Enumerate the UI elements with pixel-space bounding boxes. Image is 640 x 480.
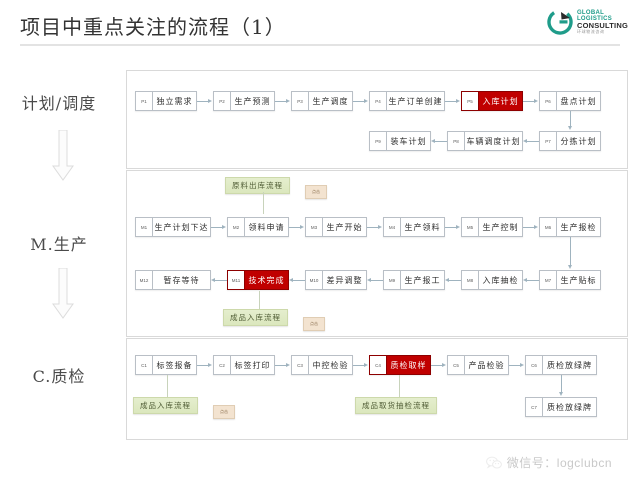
arrow-head [364, 363, 368, 367]
node-label: 盘点计划 [557, 92, 600, 110]
node-label: 生产订单创建 [387, 92, 444, 110]
node-p6[interactable]: P6 盘点计划 [539, 91, 601, 111]
section-panel-manufacturing: 原料出库流程 点击 M1 生产计划下达 M2 领料申请 M3 生产开始 M4 生… [126, 170, 628, 337]
arrow-head [431, 139, 435, 143]
node-label: 产品检验 [465, 356, 508, 374]
node-code: C5 [448, 356, 465, 374]
rail-label-manufacturing: M.生产 [0, 231, 118, 255]
node-code: P8 [448, 132, 465, 150]
arrow-head [456, 225, 460, 229]
connector [570, 237, 571, 266]
note-leader-line [399, 375, 400, 397]
node-m8[interactable]: M8 入库抽检 [461, 270, 523, 290]
page-footer: 微信号：logclubcn [0, 446, 640, 480]
node-label: 质检取样 [387, 356, 430, 374]
connector [291, 280, 305, 281]
node-code: P2 [214, 92, 231, 110]
arrow-head [222, 225, 226, 229]
arrow-head [534, 99, 538, 103]
node-c6[interactable]: C6 质检放绿牌 [525, 355, 597, 375]
note-tag-text: 点击 [310, 321, 318, 327]
node-p5-highlight[interactable]: P5 入库计划 [461, 91, 523, 111]
rail-arrow-plan-to-mfg [52, 130, 74, 182]
node-label: 车辆调度计划 [465, 132, 522, 150]
company-logo: GLOBAL LOGISTICS CONSULTING 环球物流咨询 [547, 5, 628, 39]
arrow-head [286, 363, 290, 367]
connector [447, 280, 461, 281]
node-c4-highlight[interactable]: C4 质检取样 [369, 355, 431, 375]
note-text: 成品入库流程 [230, 312, 281, 323]
node-label: 生产调度 [309, 92, 352, 110]
rail-arrow-mfg-to-qc [52, 268, 74, 320]
node-label: 生产领料 [401, 218, 444, 236]
node-m5[interactable]: M5 生产控制 [461, 217, 523, 237]
node-label: 生产预测 [231, 92, 274, 110]
note-finished-goods-inbound[interactable]: 成品入库流程 [223, 309, 288, 326]
node-code: M10 [306, 271, 323, 289]
logo-line-4: 环球物流咨询 [577, 30, 628, 34]
arrow-head [568, 126, 572, 130]
connector [433, 141, 447, 142]
wechat-id-label: 微信号：logclubcn [507, 454, 612, 471]
node-m10[interactable]: M10 差异调整 [305, 270, 367, 290]
connector [561, 375, 562, 393]
node-m7[interactable]: M7 生产贴标 [539, 270, 601, 290]
note-text: 原料出库流程 [232, 180, 283, 191]
node-code: C3 [292, 356, 309, 374]
connector [525, 280, 539, 281]
arrow-head [286, 99, 290, 103]
node-label: 分拣计划 [557, 132, 600, 150]
arrow-head [445, 278, 449, 282]
logo-wordmark: GLOBAL LOGISTICS CONSULTING 环球物流咨询 [577, 10, 628, 35]
arrow-head [211, 278, 215, 282]
page-title: 项目中重点关注的流程（1） [20, 11, 286, 40]
node-label: 生产开始 [323, 218, 366, 236]
arrow-head [300, 225, 304, 229]
connector [570, 111, 571, 127]
node-label: 生产报检 [557, 218, 600, 236]
arrow-head [208, 363, 212, 367]
arrow-head [367, 278, 371, 282]
node-m9[interactable]: M9 生产报工 [383, 270, 445, 290]
arrow-head [456, 99, 460, 103]
arrow-head [520, 363, 524, 367]
rail-label-plan: 计划/调度 [0, 90, 118, 114]
node-label: 生产报工 [401, 271, 444, 289]
note-finished-goods-inbound-qc[interactable]: 成品入库流程 [133, 397, 198, 414]
node-label: 标签报备 [153, 356, 196, 374]
connector [213, 280, 227, 281]
node-p4[interactable]: P4 生产订单创建 [369, 91, 445, 111]
node-code: P6 [540, 92, 557, 110]
note-leader-line [263, 192, 264, 214]
node-m3[interactable]: M3 生产开始 [305, 217, 367, 237]
page-header: 项目中重点关注的流程（1） GLOBAL LOGISTICS CONSULTIN… [0, 0, 640, 52]
node-code: M7 [540, 271, 557, 289]
header-divider [20, 44, 620, 46]
node-m2[interactable]: M2 领料申请 [227, 217, 289, 237]
node-m1[interactable]: M1 生产计划下达 [135, 217, 211, 237]
node-code: M3 [306, 218, 323, 236]
node-code: P9 [370, 132, 387, 150]
globe-logo-icon [547, 9, 573, 35]
arrow-head [559, 392, 563, 396]
node-code: C2 [214, 356, 231, 374]
node-label: 入库抽检 [479, 271, 522, 289]
node-code: C1 [136, 356, 153, 374]
node-label: 暂存等待 [153, 271, 210, 289]
section-panel-plan: P1 独立需求 P2 生产预测 P3 生产调度 P4 生产订单创建 P5 入库计… [126, 70, 628, 169]
node-label: 中控检验 [309, 356, 352, 374]
node-code: P5 [462, 92, 479, 110]
node-p8[interactable]: P8 车辆调度计划 [447, 131, 523, 151]
node-label: 入库计划 [479, 92, 522, 110]
node-c1[interactable]: C1 标签报备 [135, 355, 197, 375]
note-leader-line [259, 291, 260, 309]
note-text: 成品取货抽检流程 [362, 400, 430, 411]
node-p3[interactable]: P3 生产调度 [291, 91, 353, 111]
node-code: M8 [462, 271, 479, 289]
node-p1[interactable]: P1 独立需求 [135, 91, 197, 111]
arrow-head [568, 265, 572, 269]
node-code: M2 [228, 218, 245, 236]
node-c7[interactable]: C7 质检放绿牌 [525, 397, 597, 417]
node-label: 质检放绿牌 [543, 398, 596, 416]
node-code: P7 [540, 132, 557, 150]
node-c2[interactable]: C2 标签打印 [213, 355, 275, 375]
node-p7[interactable]: P7 分拣计划 [539, 131, 601, 151]
node-code: M11 [228, 271, 245, 289]
node-code: C4 [370, 356, 387, 374]
note-tag[interactable]: 点击 [303, 317, 325, 331]
arrow-head [208, 99, 212, 103]
wechat-credit: 微信号：logclubcn [486, 454, 612, 471]
node-m12[interactable]: M12 暂存等待 [135, 270, 211, 290]
arrow-head [523, 278, 527, 282]
node-label: 生产控制 [479, 218, 522, 236]
node-label: 独立需求 [153, 92, 196, 110]
node-label: 标签打印 [231, 356, 274, 374]
section-panel-quality: C1 标签报备 C2 标签打印 C3 中控检验 C4 质检取样 C5 产品检验 … [126, 338, 628, 440]
arrow-head [442, 363, 446, 367]
arrow-head [289, 278, 293, 282]
arrow-head [378, 225, 382, 229]
node-code: M5 [462, 218, 479, 236]
note-tag-text: 点击 [220, 409, 228, 415]
node-code: M6 [540, 218, 557, 236]
arrow-head [523, 139, 527, 143]
node-p9[interactable]: P9 装车计划 [369, 131, 431, 151]
note-tag-text: 点击 [312, 189, 320, 195]
node-code: P1 [136, 92, 153, 110]
node-label: 差异调整 [323, 271, 366, 289]
node-label: 生产计划下达 [153, 218, 210, 236]
node-code: C7 [526, 398, 543, 416]
arrow-head [364, 99, 368, 103]
note-raw-material-outbound[interactable]: 原料出库流程 [225, 177, 290, 194]
node-code: M9 [384, 271, 401, 289]
node-code: P4 [370, 92, 387, 110]
node-code: C6 [526, 356, 543, 374]
node-label: 装车计划 [387, 132, 430, 150]
node-m4[interactable]: M4 生产领料 [383, 217, 445, 237]
rail-label-quality: C.质检 [0, 363, 118, 387]
node-label: 技术完成 [245, 271, 288, 289]
wechat-icon [486, 456, 502, 470]
node-m11-highlight[interactable]: M11 技术完成 [227, 270, 289, 290]
node-code: M1 [136, 218, 153, 236]
node-c3[interactable]: C3 中控检验 [291, 355, 353, 375]
note-finished-goods-sampling[interactable]: 成品取货抽检流程 [355, 397, 437, 414]
node-label: 质检放绿牌 [543, 356, 596, 374]
note-leader-line [167, 375, 168, 397]
node-code: M4 [384, 218, 401, 236]
node-label: 领料申请 [245, 218, 288, 236]
note-tag[interactable]: 点击 [305, 185, 327, 199]
node-code: M12 [136, 271, 153, 289]
node-c5[interactable]: C5 产品检验 [447, 355, 509, 375]
arrow-head [534, 225, 538, 229]
node-p2[interactable]: P2 生产预测 [213, 91, 275, 111]
note-tag[interactable]: 点击 [213, 405, 235, 419]
connector [369, 280, 383, 281]
node-m6[interactable]: M6 生产报检 [539, 217, 601, 237]
node-label: 生产贴标 [557, 271, 600, 289]
node-code: P3 [292, 92, 309, 110]
note-text: 成品入库流程 [140, 400, 191, 411]
connector [525, 141, 539, 142]
